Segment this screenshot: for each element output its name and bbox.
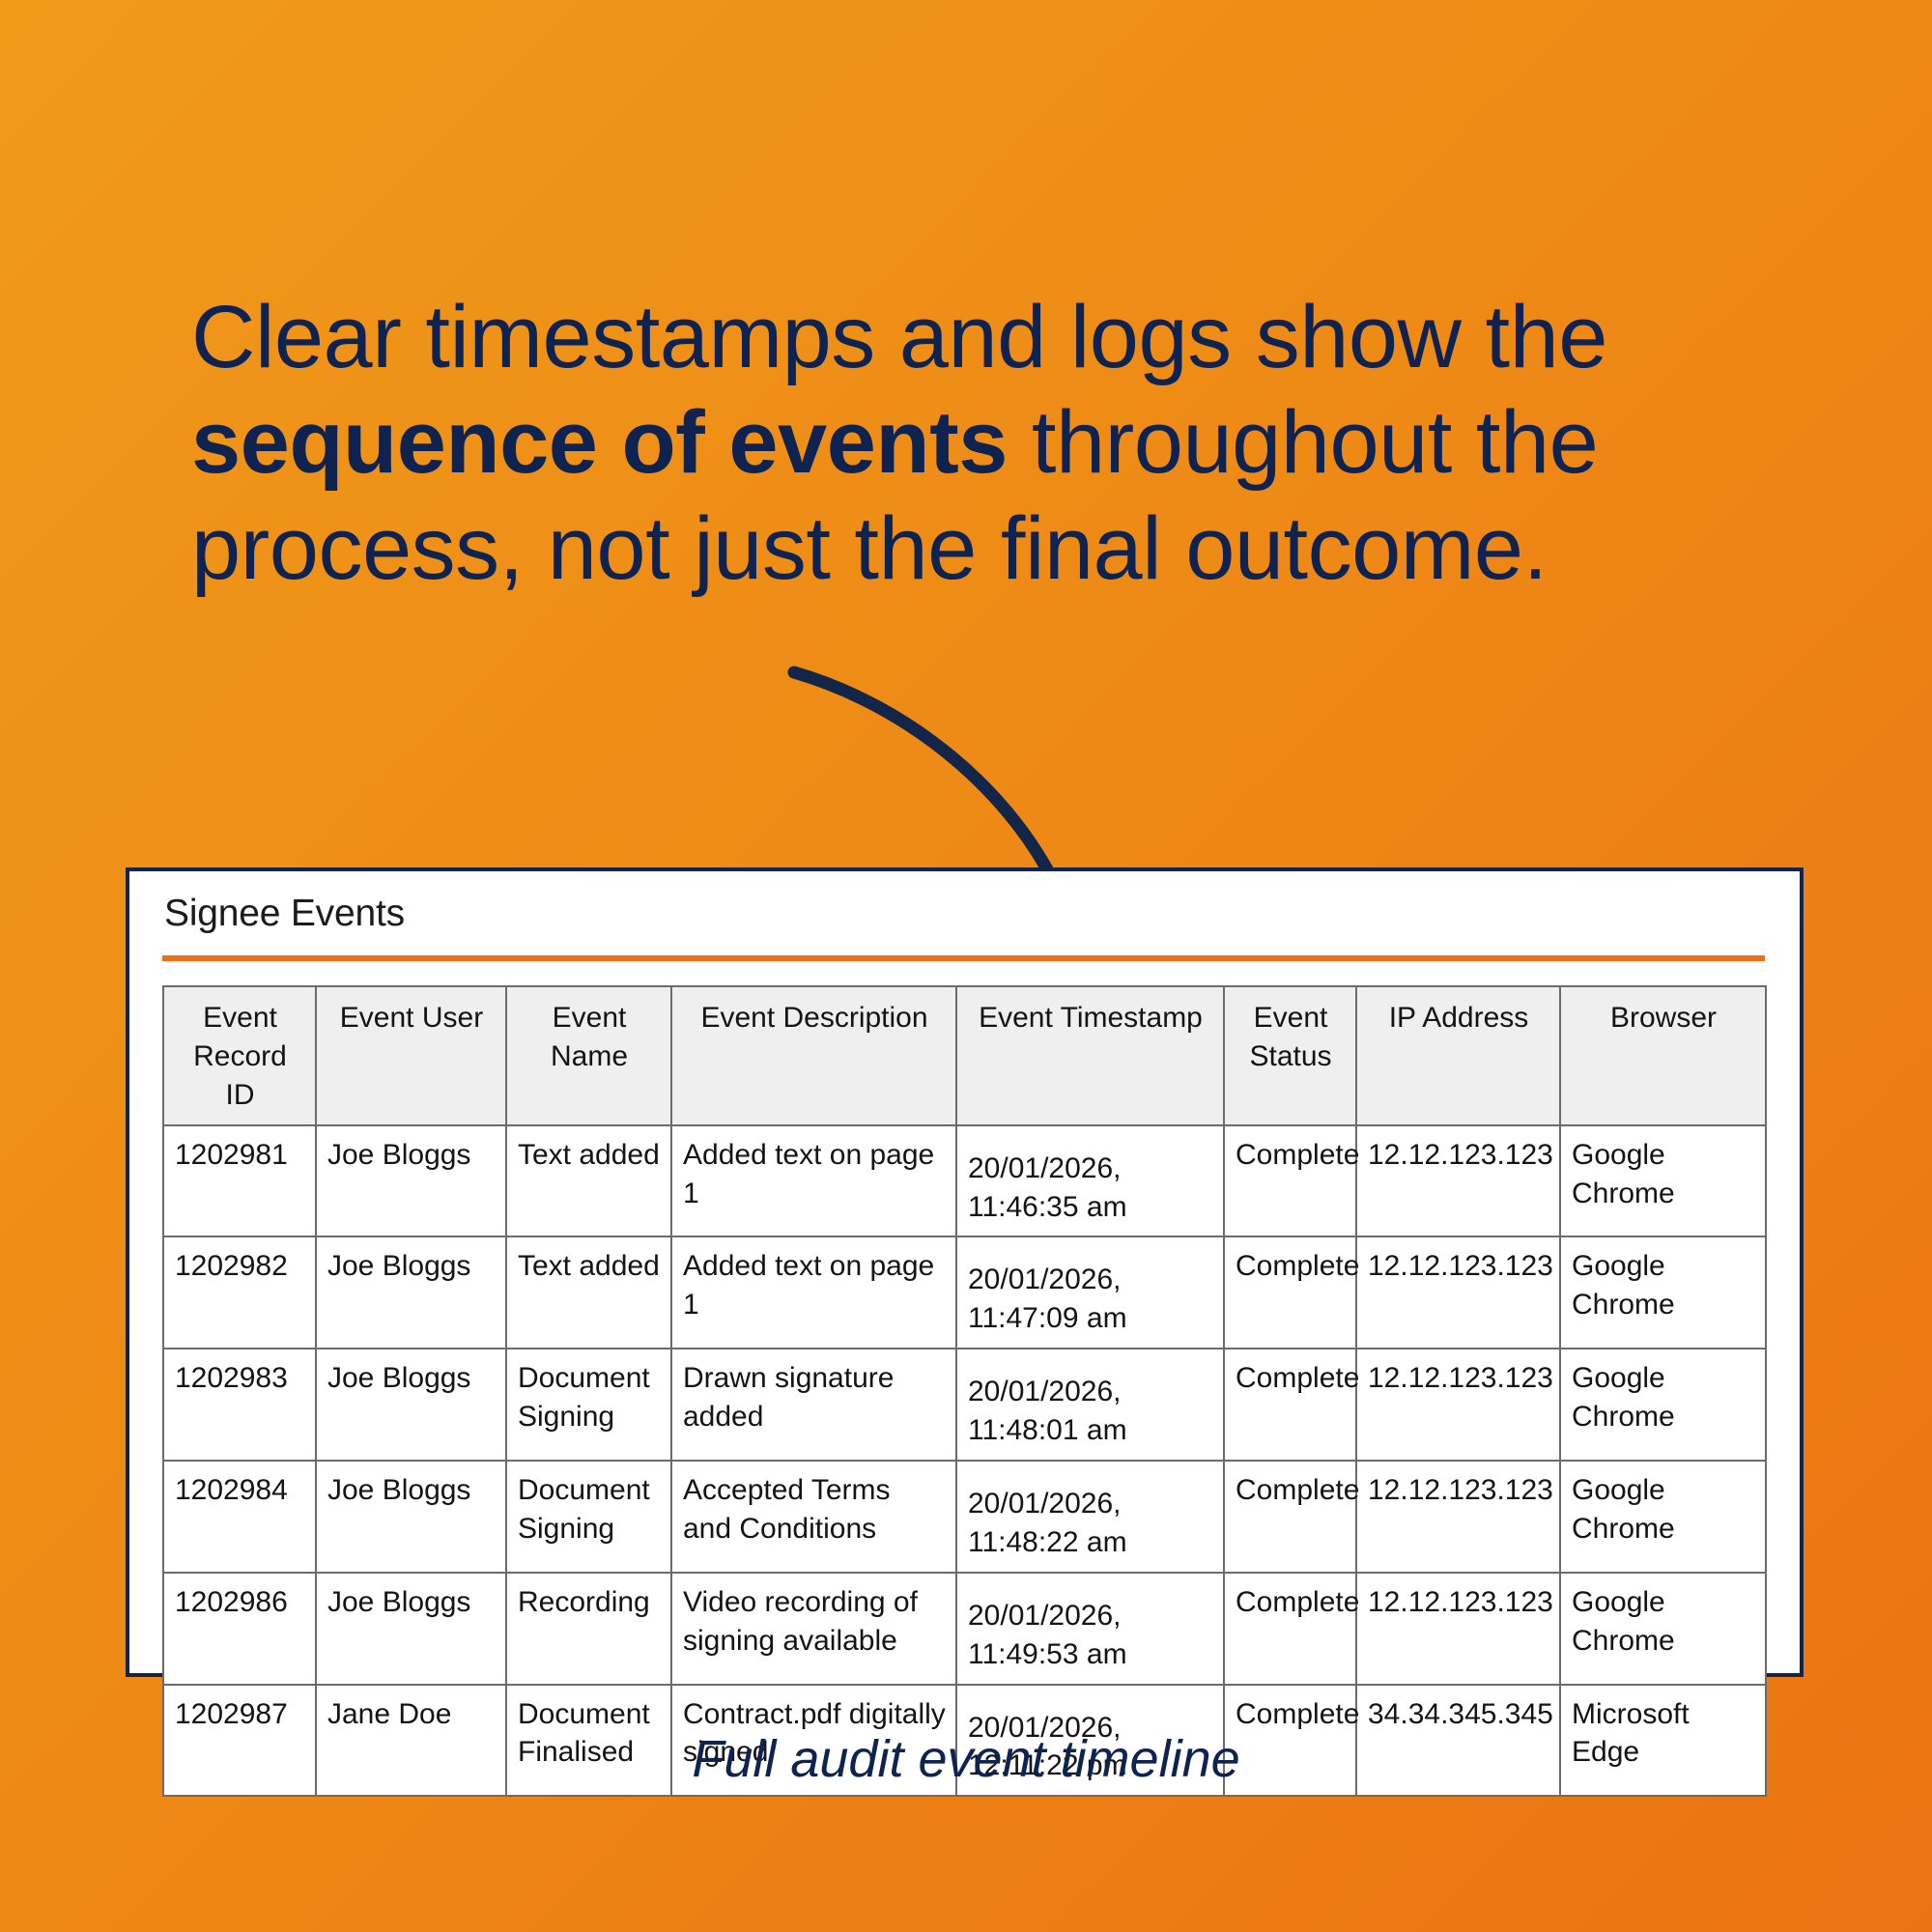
- cell-browser: Google Chrome: [1560, 1349, 1766, 1461]
- cell-event-user: Joe Bloggs: [316, 1461, 506, 1573]
- table-row[interactable]: 1202982 Joe Bloggs Text added Added text…: [163, 1236, 1766, 1349]
- cell-event-status: Complete: [1224, 1349, 1356, 1461]
- audit-table-wrapper: Event Record ID Event User Event Name Ev…: [162, 985, 1765, 1797]
- cell-ip-address: 12.12.123.123: [1356, 1236, 1560, 1349]
- table-row[interactable]: 1202981 Joe Bloggs Text added Added text…: [163, 1125, 1766, 1237]
- table-row[interactable]: 1202986 Joe Bloggs Recording Video recor…: [163, 1573, 1766, 1685]
- col-header-line: Record ID: [193, 1040, 287, 1111]
- cell-event-user: Joe Bloggs: [316, 1349, 506, 1461]
- col-header-event-description: Event Description: [671, 986, 956, 1125]
- cell-event-timestamp: 20/01/2026, 11:46:35 am: [956, 1125, 1224, 1237]
- cell-browser: Google Chrome: [1560, 1573, 1766, 1685]
- cell-event-record-id: 1202983: [163, 1349, 316, 1461]
- cell-event-status: Complete: [1224, 1573, 1356, 1685]
- cell-ip-address: 12.12.123.123: [1356, 1125, 1560, 1237]
- cell-event-status: Complete: [1224, 1236, 1356, 1349]
- col-header-browser: Browser: [1560, 986, 1766, 1125]
- col-header-event-record-id: Event Record ID: [163, 986, 316, 1125]
- cell-event-record-id: 1202986: [163, 1573, 316, 1685]
- col-header-event-user: Event User: [316, 986, 506, 1125]
- cell-event-record-id: 1202981: [163, 1125, 316, 1237]
- col-header-event-status: Event Status: [1224, 986, 1356, 1125]
- col-header-event-timestamp: Event Timestamp: [956, 986, 1224, 1125]
- col-header-line: Event: [203, 1002, 277, 1034]
- cell-browser: Google Chrome: [1560, 1236, 1766, 1349]
- cell-ip-address: 12.12.123.123: [1356, 1461, 1560, 1573]
- cell-event-status: Complete: [1224, 1125, 1356, 1237]
- col-header-ip-address: IP Address: [1356, 986, 1560, 1125]
- signee-events-table: Event Record ID Event User Event Name Ev…: [162, 985, 1767, 1797]
- cell-event-name: Document Signing: [506, 1349, 671, 1461]
- cell-event-record-id: 1202984: [163, 1461, 316, 1573]
- cell-event-user: Joe Bloggs: [316, 1573, 506, 1685]
- cell-event-record-id: 1202982: [163, 1236, 316, 1349]
- col-header-event-name: Event Name: [506, 986, 671, 1125]
- figure-caption: Full audit event timeline: [0, 1729, 1932, 1789]
- table-row[interactable]: 1202984 Joe Bloggs Document Signing Acce…: [163, 1461, 1766, 1573]
- card-title: Signee Events: [164, 893, 405, 935]
- cell-event-name: Recording: [506, 1573, 671, 1685]
- headline-part-1: Clear timestamps and logs show the: [191, 288, 1607, 386]
- table-header-row: Event Record ID Event User Event Name Ev…: [163, 986, 1766, 1125]
- page-headline: Clear timestamps and logs show the seque…: [191, 285, 1776, 602]
- cell-event-user: Joe Bloggs: [316, 1125, 506, 1237]
- cell-browser: Google Chrome: [1560, 1461, 1766, 1573]
- cell-event-status: Complete: [1224, 1461, 1356, 1573]
- cell-ip-address: 12.12.123.123: [1356, 1349, 1560, 1461]
- headline-emphasis: sequence of events: [191, 393, 1008, 492]
- cell-event-name: Text added: [506, 1236, 671, 1349]
- cell-event-description: Video recording of signing available: [671, 1573, 956, 1685]
- cell-event-description: Drawn signature added: [671, 1349, 956, 1461]
- cell-event-timestamp: 20/01/2026, 11:49:53 am: [956, 1573, 1224, 1685]
- col-header-line: Status: [1249, 1040, 1331, 1072]
- cell-event-timestamp: 20/01/2026, 11:48:01 am: [956, 1349, 1224, 1461]
- cell-event-user: Joe Bloggs: [316, 1236, 506, 1349]
- cell-event-name: Text added: [506, 1125, 671, 1237]
- cell-event-description: Accepted Terms and Conditions: [671, 1461, 956, 1573]
- cell-event-description: Added text on page 1: [671, 1236, 956, 1349]
- cell-event-description: Added text on page 1: [671, 1125, 956, 1237]
- card-accent-rule: [162, 955, 1765, 961]
- cell-browser: Google Chrome: [1560, 1125, 1766, 1237]
- signee-events-card: Signee Events Event Record ID Event User…: [126, 867, 1804, 1677]
- cell-event-timestamp: 20/01/2026, 11:48:22 am: [956, 1461, 1224, 1573]
- cell-event-name: Document Signing: [506, 1461, 671, 1573]
- table-row[interactable]: 1202983 Joe Bloggs Document Signing Draw…: [163, 1349, 1766, 1461]
- cell-ip-address: 12.12.123.123: [1356, 1573, 1560, 1685]
- cell-event-timestamp: 20/01/2026, 11:47:09 am: [956, 1236, 1224, 1349]
- col-header-line: Event: [1254, 1002, 1328, 1034]
